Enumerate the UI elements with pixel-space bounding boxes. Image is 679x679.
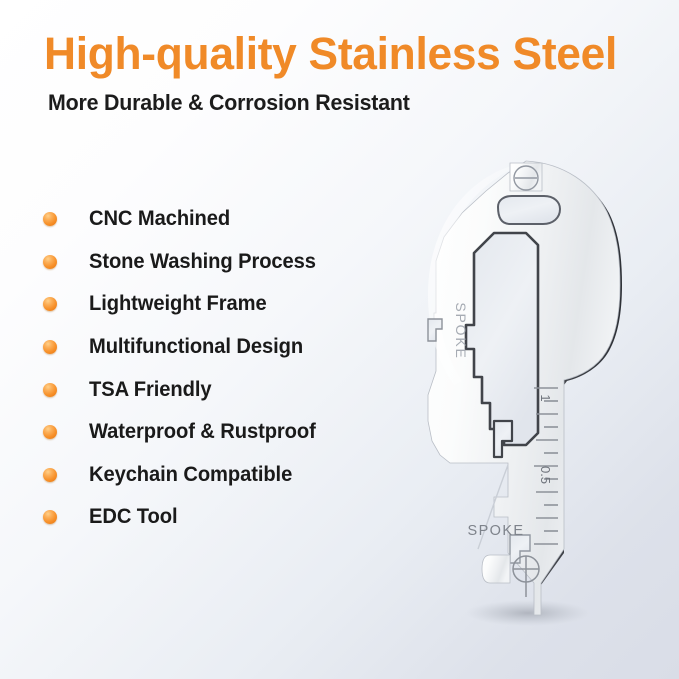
feature-label: Stone Washing Process — [89, 250, 316, 274]
feature-label: Lightweight Frame — [89, 292, 267, 316]
infographic-page: High-quality Stainless Steel More Durabl… — [0, 0, 679, 679]
page-subtitle: More Durable & Corrosion Resistant — [48, 90, 633, 116]
bullet-dot-icon — [43, 383, 57, 397]
bullet-dot-icon — [43, 510, 57, 524]
list-item: TSA Friendly — [43, 368, 403, 411]
ruler-label-half: 0.5 — [538, 466, 553, 484]
product-image: SPOKE SPOKE 1 0.5 — [378, 145, 648, 645]
brand-engraving-head: SPOKE — [453, 302, 469, 359]
list-item: EDC Tool — [43, 496, 403, 539]
list-item: CNC Machined — [43, 198, 403, 241]
feature-label: TSA Friendly — [89, 378, 211, 402]
tip-side-tab — [482, 555, 510, 583]
feature-label: EDC Tool — [89, 505, 177, 529]
feature-label: Waterproof & Rustproof — [89, 420, 316, 444]
feature-label: Keychain Compatible — [89, 463, 292, 487]
ruler-label-1: 1 — [538, 394, 553, 401]
list-item: Stone Washing Process — [43, 241, 403, 284]
heading-block: High-quality Stainless Steel More Durabl… — [44, 30, 664, 116]
bullet-dot-icon — [43, 340, 57, 354]
bullet-dot-icon — [43, 425, 57, 439]
page-title: High-quality Stainless Steel — [44, 30, 655, 79]
keyring-tab — [510, 163, 542, 191]
list-item: Waterproof & Rustproof — [43, 411, 403, 454]
keyring-hole — [498, 196, 560, 224]
feature-list: CNC Machined Stone Washing Process Light… — [43, 198, 403, 539]
list-item: Multifunctional Design — [43, 326, 403, 369]
bullet-dot-icon — [43, 212, 57, 226]
bullet-dot-icon — [43, 468, 57, 482]
bullet-dot-icon — [43, 297, 57, 311]
bullet-dot-icon — [43, 255, 57, 269]
feature-label: Multifunctional Design — [89, 335, 303, 359]
list-item: Keychain Compatible — [43, 454, 403, 497]
feature-label: CNC Machined — [89, 207, 230, 231]
product-shadow — [466, 600, 590, 626]
brand-engraving-blade: SPOKE — [468, 523, 525, 539]
list-item: Lightweight Frame — [43, 283, 403, 326]
